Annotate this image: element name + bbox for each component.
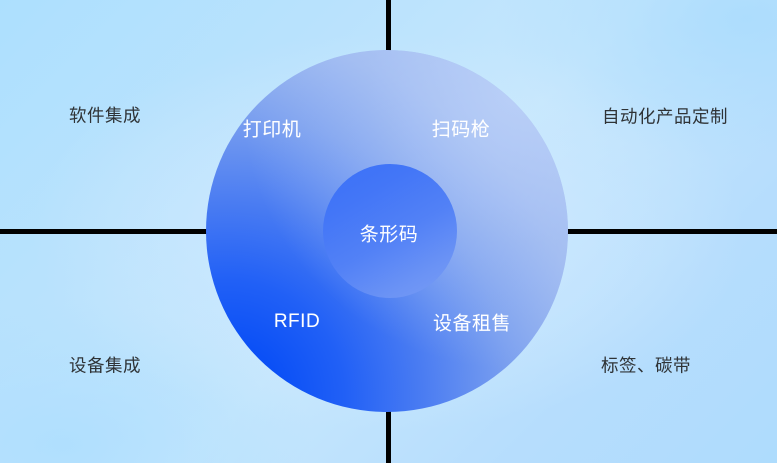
- inner-label-printer: 打印机: [243, 115, 302, 142]
- inner-label-scanner: 扫码枪: [432, 115, 491, 142]
- inner-label-equipment-rental: 设备租售: [433, 309, 511, 336]
- diagram-canvas: 打印机 扫码枪 RFID 设备租售 条形码 软件集成 自动化产品定制 设备集成 …: [0, 0, 777, 463]
- outer-label-device-integration: 设备集成: [69, 353, 141, 378]
- outer-label-labels-ribbons: 标签、碳带: [601, 353, 691, 378]
- inner-label-rfid: RFID: [274, 311, 320, 333]
- outer-label-software-integration: 软件集成: [69, 103, 141, 128]
- outer-label-automation-customization: 自动化产品定制: [602, 104, 728, 129]
- center-label-barcode: 条形码: [360, 220, 419, 247]
